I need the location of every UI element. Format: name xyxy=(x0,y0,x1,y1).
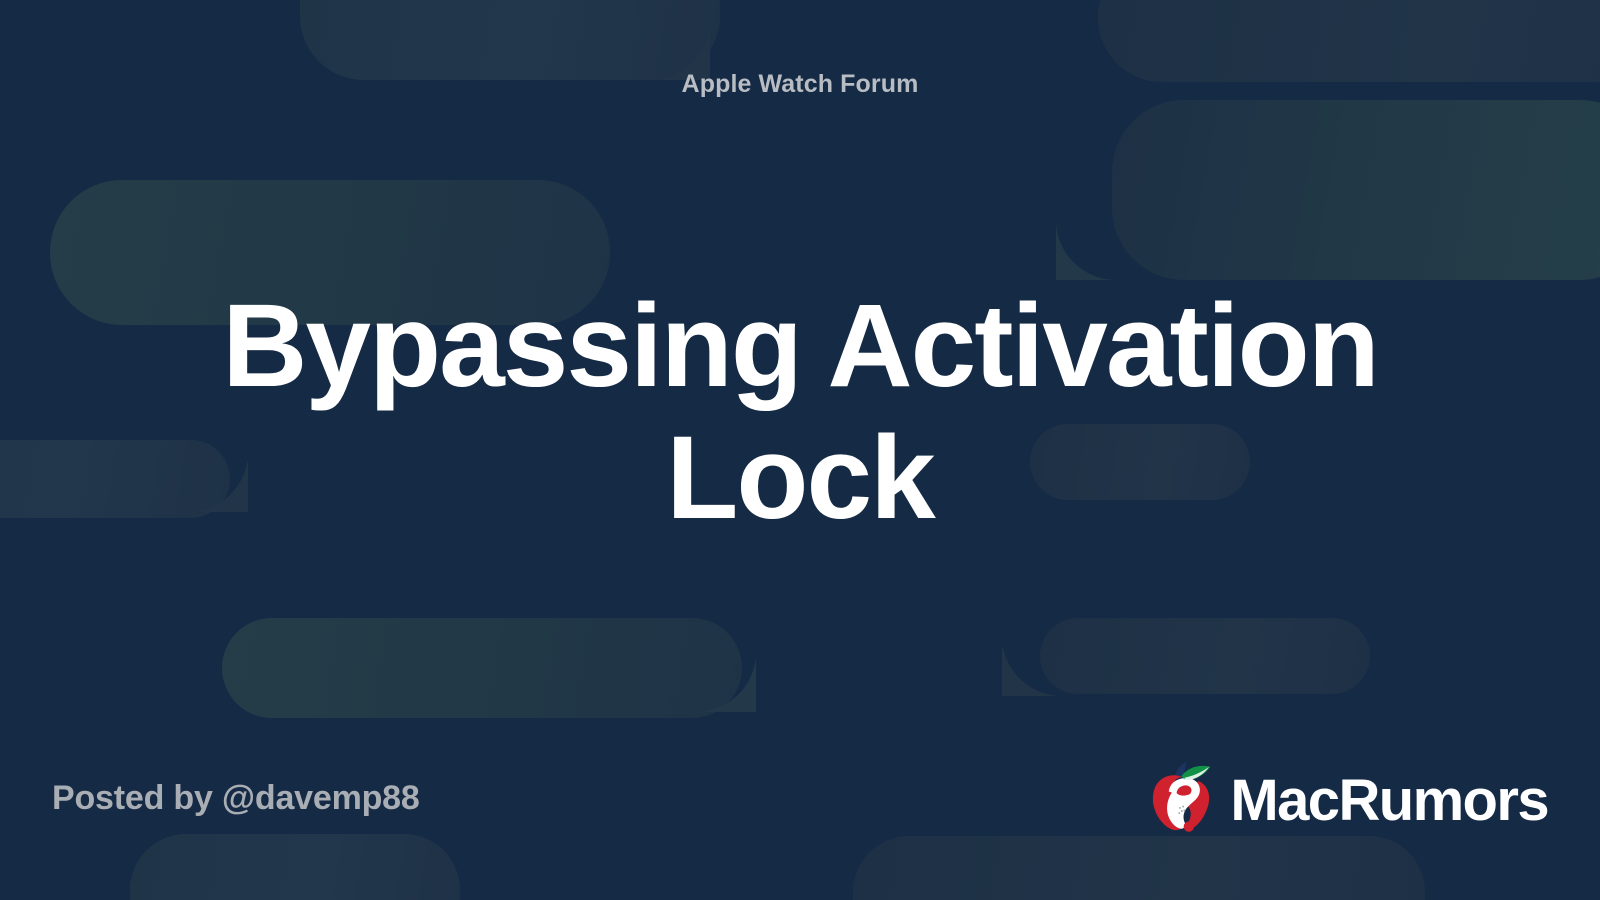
card-content: Apple Watch Forum Bypassing Activation L… xyxy=(0,0,1600,900)
card-footer: Posted by @davemp88 xyxy=(0,758,1600,838)
macrumors-wordmark: MacRumors xyxy=(1230,772,1548,830)
posted-by-label: Posted by @davemp88 xyxy=(52,779,420,818)
title-container: Bypassing Activation Lock xyxy=(0,280,1600,544)
macrumors-brand: MacRumors xyxy=(1144,759,1548,837)
social-share-card: Apple Watch Forum Bypassing Activation L… xyxy=(0,0,1600,900)
forum-label: Apple Watch Forum xyxy=(682,70,919,99)
macrumors-apple-logo-icon xyxy=(1144,759,1222,837)
page-title: Bypassing Activation Lock xyxy=(120,280,1480,544)
